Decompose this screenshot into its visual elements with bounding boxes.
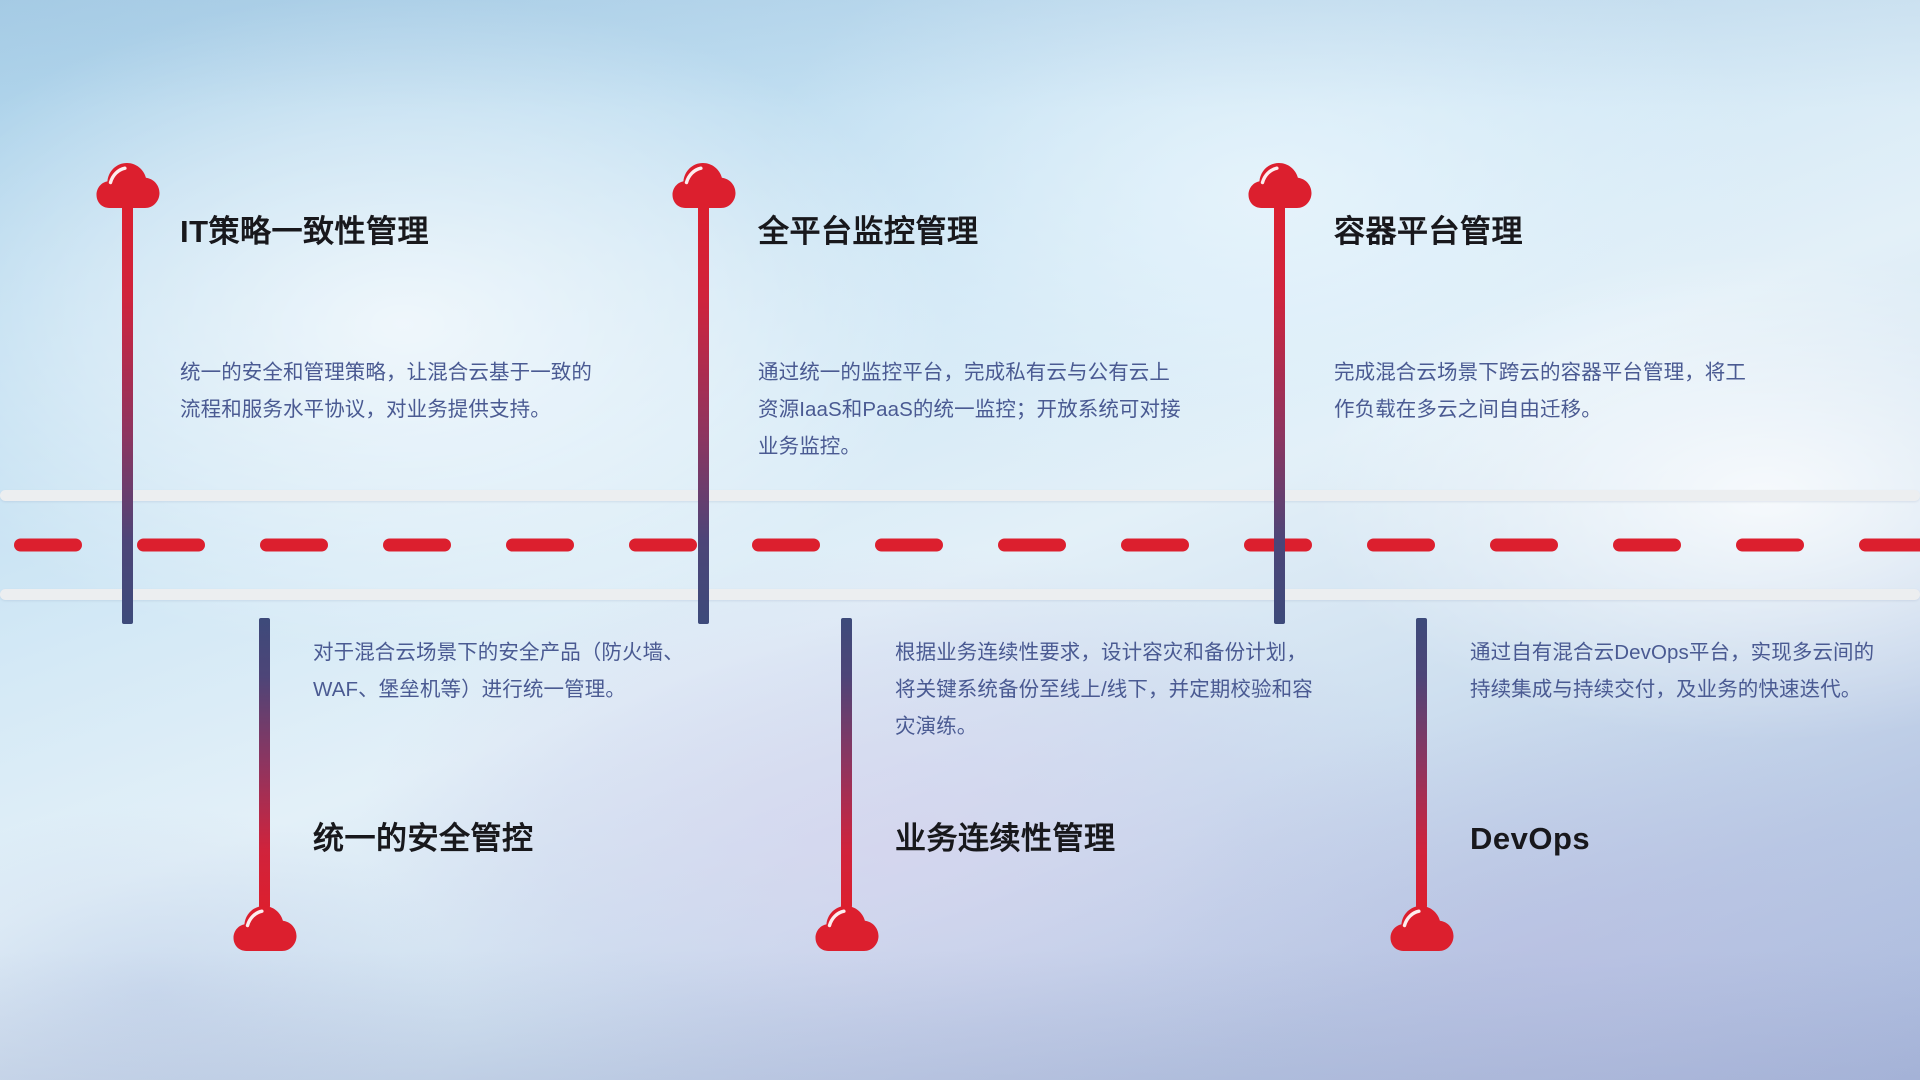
road-dash (1613, 539, 1681, 552)
feature-heading: IT策略一致性管理 (180, 215, 429, 249)
cloud-icon (1248, 160, 1312, 214)
road-edge-top (0, 490, 1920, 501)
road-dash (1490, 539, 1558, 552)
feature-description: 根据业务连续性要求，设计容灾和备份计划，将关键系统备份至线上/线下，并定期校验和… (895, 635, 1323, 746)
pin-stem (122, 204, 133, 624)
road-dash (1859, 539, 1920, 552)
cloud-icon (672, 160, 736, 214)
road-dash (998, 539, 1066, 552)
road-dash (1736, 539, 1804, 552)
road-dash (752, 539, 820, 552)
feature-heading: 统一的安全管控 (313, 822, 534, 856)
pin-stem (259, 618, 270, 908)
pin-stem (1274, 204, 1285, 624)
feature-heading: 全平台监控管理 (758, 215, 979, 249)
road-dash (875, 539, 943, 552)
feature-description: 统一的安全和管理策略，让混合云基于一致的流程和服务水平协议，对业务提供支持。 (180, 355, 600, 429)
road-dash (1121, 539, 1189, 552)
infographic-canvas: IT策略一致性管理 统一的安全和管理策略，让混合云基于一致的流程和服务水平协议，… (0, 0, 1920, 1080)
road-dash (1367, 539, 1435, 552)
road-dash (14, 539, 82, 552)
pin-stem (841, 618, 852, 908)
feature-heading: 业务连续性管理 (895, 822, 1116, 856)
road-edge-bottom (0, 589, 1920, 600)
road-dash (506, 539, 574, 552)
pin-stem (698, 204, 709, 624)
feature-description: 对于混合云场景下的安全产品（防火墙、WAF、堡垒机等）进行统一管理。 (313, 635, 733, 709)
feature-description: 完成混合云场景下跨云的容器平台管理，将工作负载在多云之间自由迁移。 (1334, 355, 1754, 429)
pin-stem (1416, 618, 1427, 908)
road-dash-line (0, 539, 1920, 552)
road-dash (260, 539, 328, 552)
road-dash (383, 539, 451, 552)
road-dash (137, 539, 205, 552)
cloud-icon (233, 903, 297, 957)
cloud-icon (96, 160, 160, 214)
feature-heading: DevOps (1470, 822, 1590, 856)
feature-description: 通过自有混合云DevOps平台，实现多云间的持续集成与持续交付，及业务的快速迭代… (1470, 635, 1888, 709)
feature-description: 通过统一的监控平台，完成私有云与公有云上资源IaaS和PaaS的统一监控；开放系… (758, 355, 1190, 466)
feature-heading: 容器平台管理 (1334, 215, 1523, 249)
road-divider (0, 490, 1920, 600)
cloud-icon (1390, 903, 1454, 957)
cloud-icon (815, 903, 879, 957)
road-dash (629, 539, 697, 552)
